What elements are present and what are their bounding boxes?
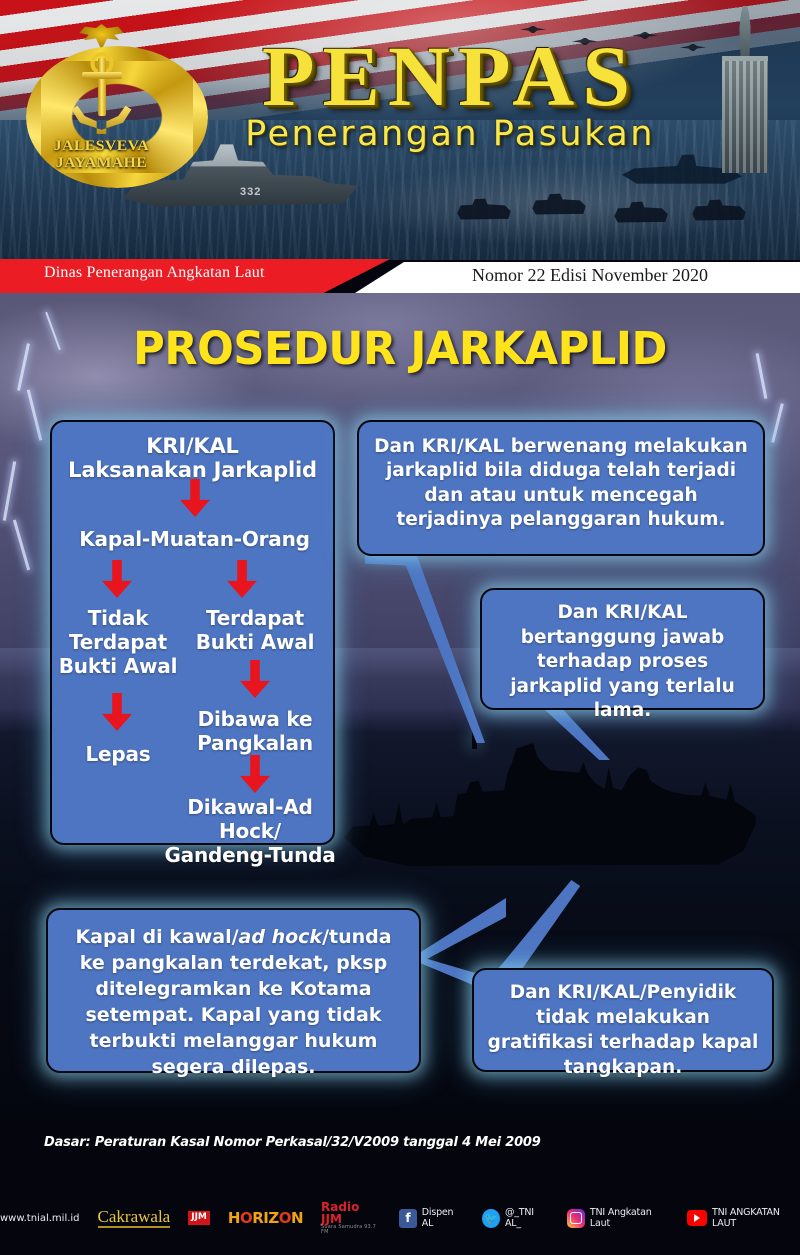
note-bubble-escort: Kapal di kawal/ad hock/tunda ke pangkala…	[46, 908, 421, 1073]
jjm-brand[interactable]: JJM	[188, 1211, 210, 1224]
instagram-label: TNI Angkatan Laut	[590, 1207, 669, 1229]
flow-arrow-left-branch	[102, 560, 132, 598]
twitter-icon: 🐦	[482, 1209, 500, 1228]
twitter-link[interactable]: 🐦 @_TNI AL_	[482, 1207, 549, 1229]
cakrawala-brand[interactable]: Cakrawala	[98, 1208, 171, 1228]
horizon-e: N	[291, 1209, 303, 1227]
legal-basis-note: Dasar: Peraturan Kasal Nomor Perkasal/32…	[44, 1135, 541, 1150]
jjm-label: JJM	[188, 1211, 210, 1224]
horizon-a: H	[228, 1209, 240, 1227]
flow-branch-left-result: Lepas	[52, 742, 184, 766]
penpas-subtitle: Penerangan Pasukan	[190, 114, 710, 154]
instagram-icon	[567, 1209, 585, 1228]
flow-branch-left-l1: Tidak	[52, 606, 184, 630]
youtube-label: TNI ANGKATAN LAUT	[712, 1207, 800, 1229]
facebook-label: Dispen AL	[422, 1207, 465, 1229]
facebook-link[interactable]: f Dispen AL	[399, 1207, 464, 1229]
anchor-icon	[71, 58, 133, 134]
emblem-motto: JALESVEVA JAYAMAHE	[11, 138, 193, 172]
horizon-c: RIZ	[252, 1209, 279, 1227]
flow-branch-left-l3: Bukti Awal	[52, 654, 184, 678]
flow-branch-right: Terdapat Bukti Awal	[180, 606, 330, 654]
twitter-label: @_TNI AL_	[505, 1207, 549, 1229]
horizon-d: O	[279, 1209, 291, 1227]
escort-text-part2: /tunda ke pangkalan terdekat, pksp ditel…	[80, 926, 392, 1078]
flow-branch-left: Tidak Terdapat Bukti Awal	[52, 606, 184, 678]
flow-branch-right-step2: Dibawa ke Pangkalan	[180, 707, 330, 755]
radio-jjm-tagline: Suara Samudra 93.7 FM	[321, 1225, 381, 1235]
flow-arrow-down	[180, 479, 210, 517]
flow-branch-right-step3: Dikawal-Ad Hock/ Gandeng-Tunda	[160, 795, 340, 867]
monument-figure	[735, 6, 755, 58]
radio-jjm-brand[interactable]: Radio JJM Suara Samudra 93.7 FM	[321, 1201, 381, 1235]
flow-arrow-lepas	[102, 693, 132, 731]
publisher-label: Dinas Penerangan Angkatan Laut	[44, 264, 265, 282]
penpas-title: PENPAS	[190, 34, 710, 118]
flow-right-s3-l2: Gandeng-Tunda	[160, 843, 340, 867]
note-bubble-authority: Dan KRI/KAL berwenang melakukan jarkapli…	[357, 420, 765, 556]
footer-social-bar: www.tnial.mil.id Cakrawala JJM HORIZON R…	[0, 1198, 800, 1238]
flow-branch-left-l2: Terdapat	[52, 630, 184, 654]
radio-jjm-name: Radio JJM	[321, 1200, 359, 1226]
flow-step-subject: Kapal-Muatan-Orang	[52, 527, 337, 551]
cakrawala-label: Cakrawala	[98, 1208, 171, 1228]
facebook-icon: f	[399, 1209, 417, 1228]
youtube-icon	[687, 1210, 707, 1226]
jjm-line1: JJM	[191, 1212, 207, 1222]
penpas-wordmark: PENPAS Penerangan Pasukan	[190, 34, 710, 154]
issue-ribbon: Dinas Penerangan Angkatan Laut Nomor 22 …	[0, 259, 800, 293]
flow-arrow-pangkalan	[240, 660, 270, 698]
header-banner: 332 JALESVEVA JAYAMAHE PENPAS Penerangan…	[0, 0, 800, 260]
monument-column	[722, 56, 768, 173]
flow-arrow-dikawal	[240, 755, 270, 793]
escort-text-italic: ad hock	[239, 926, 323, 948]
note-bubble-responsibility: Dan KRI/KAL bertanggung jawab terhadap p…	[480, 588, 765, 710]
website-link[interactable]: www.tnial.mil.id	[0, 1213, 80, 1224]
jalesveva-jayamahe-monument	[714, 6, 776, 166]
horizon-b: O	[240, 1209, 252, 1227]
website-url-label: www.tnial.mil.id	[0, 1213, 80, 1224]
horizon-label: HORIZON	[228, 1209, 303, 1227]
flow-step-start: KRI/KAL Laksanakan Jarkaplid	[62, 434, 323, 483]
flow-right-s2-l1: Dibawa ke	[180, 707, 330, 731]
flow-arrow-right-branch	[227, 560, 257, 598]
tni-al-emblem: JALESVEVA JAYAMAHE	[14, 22, 189, 172]
hull-number-label: 332	[240, 186, 261, 198]
infographic-page: 332 JALESVEVA JAYAMAHE PENPAS Penerangan…	[0, 0, 800, 1255]
flowchart-box: KRI/KAL Laksanakan Jarkaplid Kapal-Muata…	[50, 420, 335, 845]
page-title: PROSEDUR JARKAPLID	[16, 322, 784, 375]
flow-right-s3-l1: Dikawal-Ad Hock/	[160, 795, 340, 843]
instagram-link[interactable]: TNI Angkatan Laut	[567, 1207, 668, 1229]
horizon-brand[interactable]: HORIZON	[228, 1209, 303, 1227]
youtube-link[interactable]: TNI ANGKATAN LAUT	[687, 1207, 800, 1229]
flow-branch-right-l1: Terdapat	[180, 606, 330, 630]
note-bubble-gratification: Dan KRI/KAL/Penyidik tidak melakukan gra…	[472, 968, 774, 1072]
flow-right-s2-l2: Pangkalan	[180, 731, 330, 755]
issue-number-label: Nomor 22 Edisi November 2020	[400, 265, 780, 286]
escort-text-part1: Kapal di kawal/	[75, 926, 238, 948]
flow-start-line1: KRI/KAL	[62, 434, 323, 458]
radio-jjm-label: Radio JJM Suara Samudra 93.7 FM	[321, 1201, 381, 1235]
flow-branch-right-l2: Bukti Awal	[180, 630, 330, 654]
